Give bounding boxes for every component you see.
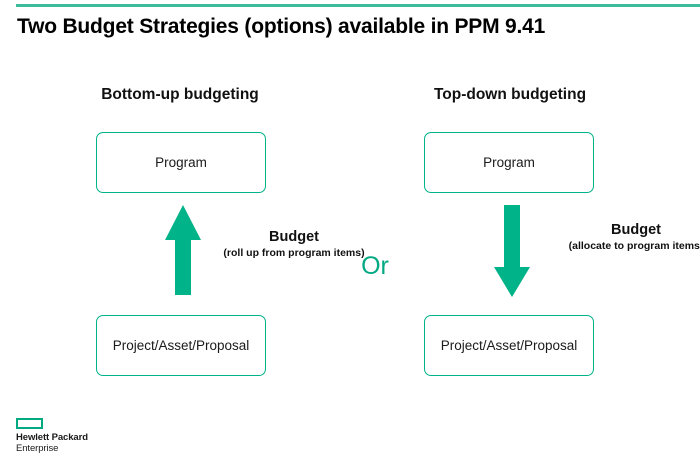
budget-title-right: Budget <box>520 222 700 239</box>
budget-subtitle-right: (allocate to program items) <box>520 239 700 253</box>
hpe-rectangle-mark-icon <box>16 418 43 429</box>
box-program-left: Program <box>96 132 266 193</box>
hpe-logo-line2: Enterprise <box>16 443 156 454</box>
box-program-right: Program <box>424 132 594 193</box>
column-heading-bottom-up: Bottom-up budgeting <box>60 86 300 104</box>
column-heading-top-down: Top-down budgeting <box>390 86 630 104</box>
budget-title-left: Budget <box>184 229 404 246</box>
box-project-asset-proposal-left: Project/Asset/Proposal <box>96 315 266 376</box>
box-project-asset-proposal-right: Project/Asset/Proposal <box>424 315 594 376</box>
top-accent-rule <box>16 4 700 7</box>
page-title: Two Budget Strategies (options) availabl… <box>17 15 687 39</box>
slide-canvas: Two Budget Strategies (options) availabl… <box>0 0 700 453</box>
budget-label-right: Budget (allocate to program items) <box>520 222 700 253</box>
hpe-logo: Hewlett Packard Enterprise <box>16 418 156 454</box>
hpe-logo-line1: Hewlett Packard <box>16 432 156 443</box>
or-connector-label: Or <box>352 252 398 281</box>
